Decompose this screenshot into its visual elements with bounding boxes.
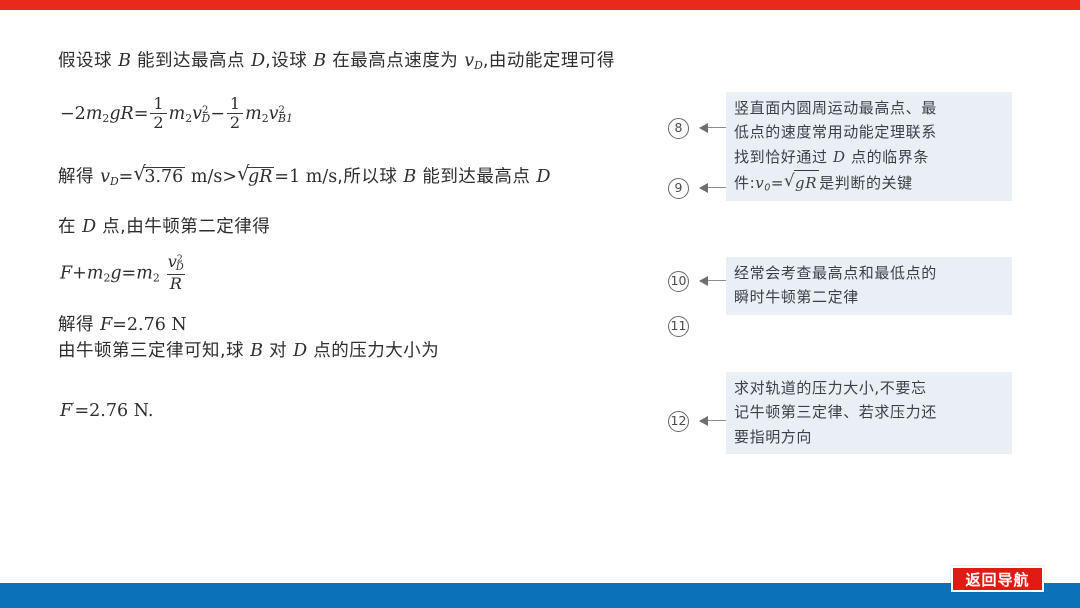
solve-f-prefix: 解得	[58, 315, 100, 335]
note-box-newton-third-law: 求对轨道的压力大小,不要忘 记牛顿第三定律、若求压力还 要指明方向	[726, 372, 1012, 454]
marker-9: 9	[668, 178, 689, 199]
energy-t1-v: v	[192, 104, 202, 124]
solve-vd-var-v: v	[100, 167, 110, 187]
note-1-line-3-a: 找到恰好通过	[734, 148, 833, 166]
newton2-g: g	[110, 263, 121, 283]
top-accent-bar	[0, 0, 1080, 10]
note-1-line-3: 找到恰好通过 D 点的临界条	[734, 145, 1006, 169]
note-1-sqrt-R: R	[805, 174, 817, 192]
newton2-frac-num: v2D	[165, 254, 187, 274]
assumption-text-c: ,设球	[265, 51, 313, 71]
energy-fraction-1: 12	[150, 96, 166, 131]
newton3-var-d: D	[293, 341, 307, 361]
note-box-circular-motion: 竖直面内圆周运动最高点、最 低点的速度常用动能定理联系 找到恰好通过 D 点的临…	[726, 92, 1012, 201]
sqrt-gR-R: R	[259, 167, 272, 187]
newton2-m1: m	[87, 263, 104, 283]
energy-equals: =	[134, 104, 149, 124]
note-1-line-4-b: 是判断的关键	[819, 174, 913, 192]
energy-minus: −	[210, 104, 225, 124]
at-d-text-b: 点,由牛顿第二定律得	[96, 217, 270, 237]
line-solve-f: 解得 F=2.76 N	[58, 316, 187, 334]
assumption-text-a: 假设球	[58, 51, 118, 71]
energy-frac2-num: 1	[227, 96, 243, 113]
line-assumption: 假设球 B 能到达最高点 D,设球 B 在最高点速度为 vD,由动能定理可得	[58, 52, 615, 71]
marker-8-circle: 8	[668, 118, 689, 139]
marker-8: 8	[668, 118, 689, 139]
solve-vd-var-d: D	[536, 167, 550, 187]
note-1-line-3-var-d: D	[833, 148, 846, 166]
energy-t2-m-sub: 2	[262, 112, 269, 125]
assumption-text-e: ,由动能定理可得	[483, 51, 615, 71]
newton2-m2: m	[136, 263, 153, 283]
note-1-line-4-a: 件:	[734, 174, 755, 192]
leader-arrow-9	[700, 187, 726, 188]
solve-vd-greater-than: >	[222, 167, 237, 187]
sqrt-gR-g: g	[248, 167, 259, 187]
solve-vd-equals-1: =	[119, 167, 134, 187]
newton3-text-a: 由牛顿第三定律可知,球	[58, 341, 250, 361]
solve-f-value: =2.76 N	[112, 315, 187, 335]
at-d-text-a: 在	[58, 217, 82, 237]
note-1-sqrt-gR: gR	[784, 169, 819, 195]
note-1-sqrt-body: gR	[794, 170, 819, 195]
assumption-var-b1: B	[118, 51, 131, 71]
marker-11-circle: 11	[668, 316, 689, 337]
solve-vd-unit-1: m/s	[185, 167, 222, 187]
line-solve-vd: 解得 vD=3.76 m/s>gR=1 m/s,所以球 B 能到达最高点 D	[58, 166, 550, 187]
sqrt-radical-376: 3.76	[133, 166, 185, 186]
return-nav-label: 返回导航	[965, 569, 1029, 590]
note-box-newton-second-law: 经常会考查最高点和最低点的 瞬时牛顿第二定律	[726, 257, 1012, 315]
assumption-text-b: 能到达最高点	[131, 51, 251, 71]
energy-lhs-g: g	[109, 104, 120, 124]
energy-t2-v-sub: B1	[278, 112, 293, 125]
note-1-equals: =	[771, 174, 784, 192]
note-2-line-2: 瞬时牛顿第二定律	[734, 285, 1006, 309]
equation-newton-second-law: F+m2g=m2v2DR	[60, 255, 189, 293]
newton3-var-b: B	[250, 341, 263, 361]
newton2-plus: +	[72, 263, 87, 283]
marker-12-circle: 12	[668, 411, 689, 432]
marker-12: 12	[668, 411, 689, 432]
newton2-m2-sub: 2	[153, 271, 160, 284]
solve-vd-equals-2: =1	[274, 167, 300, 187]
return-nav-button[interactable]: 返回导航	[951, 566, 1044, 592]
fprime-var: F	[60, 401, 72, 421]
line-newton-third-law: 由牛顿第三定律可知,球 B 对 D 点的压力大小为	[58, 342, 439, 360]
assumption-var-b2: B	[313, 51, 326, 71]
energy-lhs-R: R	[121, 104, 134, 124]
solve-vd-var-b: B	[403, 167, 416, 187]
fprime-value: =2.76 N.	[74, 401, 153, 421]
note-1-sqrt-g: g	[795, 174, 805, 192]
solve-f-var: F	[100, 315, 112, 335]
marker-10-circle: 10	[668, 271, 689, 292]
leader-arrow-8	[700, 127, 726, 128]
sqrt-gR-body: gR	[247, 167, 274, 186]
note-3-line-1: 求对轨道的压力大小,不要忘	[734, 376, 1006, 400]
note-3-line-2: 记牛顿第三定律、若求压力还	[734, 400, 1006, 424]
line-at-point-d: 在 D 点,由牛顿第二定律得	[58, 218, 270, 236]
note-2-line-1: 经常会考查最高点和最低点的	[734, 261, 1006, 285]
solve-vd-unit-2: m/s	[300, 167, 337, 187]
marker-9-circle: 9	[668, 178, 689, 199]
leader-arrow-10	[700, 280, 726, 281]
note-1-line-4: 件:v0=gR是判断的关键	[734, 169, 1006, 196]
newton2-frac-den: R	[167, 274, 185, 292]
energy-frac1-num: 1	[150, 96, 166, 113]
leader-arrow-12	[700, 420, 726, 421]
energy-t1-v-sub: D	[202, 112, 211, 125]
at-d-var-d: D	[82, 217, 96, 237]
sqrt-376-value: 3.76	[143, 167, 185, 186]
marker-11: 11	[668, 316, 689, 337]
assumption-var-v: v	[464, 51, 474, 71]
solve-vd-var-v-sub: D	[110, 175, 119, 188]
energy-t2-m: m	[245, 104, 262, 124]
note-1-line-2: 低点的速度常用动能定理联系	[734, 120, 1006, 144]
newton2-fraction: v2DR	[165, 254, 187, 292]
equation-energy-theorem: −2m2gR=12m2v2D−12m2v2B1	[60, 97, 293, 132]
energy-fraction-2: 12	[227, 96, 243, 131]
assumption-text-d: 在最高点速度为	[326, 51, 464, 71]
energy-frac1-den: 2	[150, 113, 166, 131]
equation-f-prime: F′=2.76 N.	[60, 402, 153, 420]
note-1-v0: v	[755, 174, 764, 192]
solve-vd-suffix: ,所以球	[337, 167, 403, 187]
note-1-line-3-b: 点的临界条	[846, 148, 929, 166]
newton2-num-v-sub: D	[176, 262, 184, 273]
energy-lhs-sign: −2	[60, 104, 86, 124]
marker-10: 10	[668, 271, 689, 292]
note-3-line-3: 要指明方向	[734, 425, 1006, 449]
newton2-equals: =	[122, 263, 137, 283]
solve-vd-suffix-2: 能到达最高点	[416, 167, 536, 187]
assumption-var-d1: D	[251, 51, 265, 71]
newton3-text-c: 点的压力大小为	[307, 341, 439, 361]
solve-vd-prefix: 解得	[58, 167, 100, 187]
bottom-accent-bar	[0, 583, 1080, 608]
note-1-line-1: 竖直面内圆周运动最高点、最	[734, 96, 1006, 120]
energy-t1-m: m	[169, 104, 186, 124]
newton3-text-b: 对	[263, 341, 293, 361]
newton2-F: F	[60, 263, 72, 283]
assumption-var-v-sub: D	[474, 59, 483, 72]
energy-lhs-m: m	[86, 104, 103, 124]
energy-frac2-den: 2	[227, 113, 243, 131]
sqrt-radical-gR: gR	[237, 166, 274, 186]
